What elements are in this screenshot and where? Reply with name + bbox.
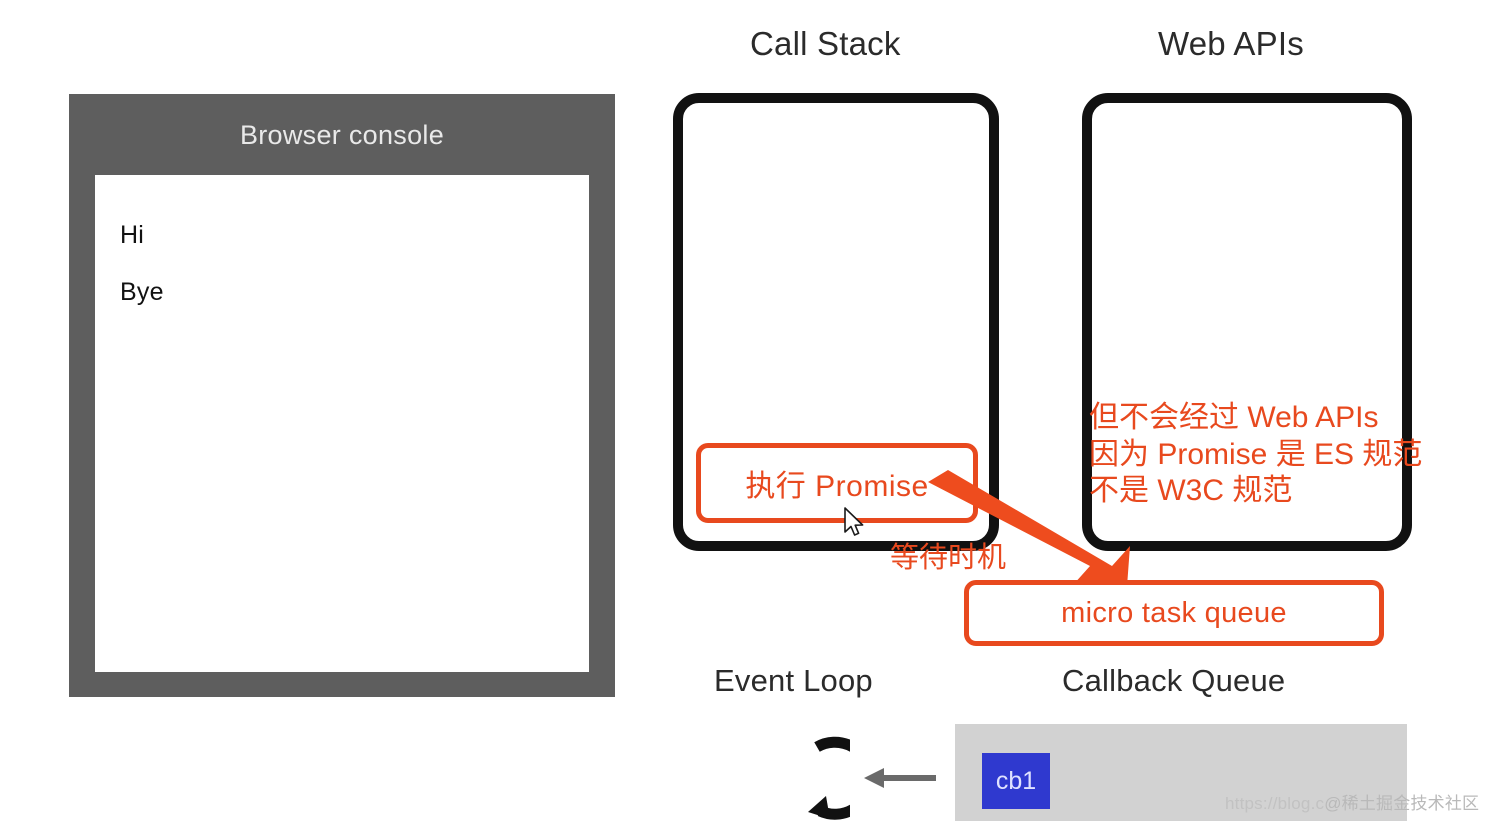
callback-queue-item: cb1 [982, 753, 1050, 809]
call-stack-label: Call Stack [750, 25, 901, 63]
diagram-canvas: Browser console Hi Bye Call Stack Web AP… [0, 0, 1485, 821]
web-apis-label: Web APIs [1158, 25, 1304, 63]
browser-console-output: Hi Bye [95, 175, 589, 672]
watermark: https://blog.c@稀土掘金技术社区 [1225, 789, 1479, 814]
callback-queue-item-label: cb1 [996, 767, 1036, 796]
console-log-line: Bye [120, 278, 164, 307]
watermark-url: https://blog.c [1225, 794, 1324, 813]
event-loop-circular-arrow-icon [758, 733, 850, 821]
callback-queue-label: Callback Queue [1062, 663, 1285, 699]
micro-task-queue-box: micro task queue [964, 580, 1384, 646]
console-log-line: Hi [120, 221, 144, 250]
micro-task-queue-label: micro task queue [1061, 597, 1287, 630]
exec-promise-label: 执行 Promise [745, 461, 928, 505]
callback-to-loop-arrow-icon [862, 765, 936, 791]
browser-console-title: Browser console [69, 94, 615, 176]
watermark-handle: @稀土掘金技术社区 [1324, 794, 1479, 813]
browser-console-panel: Browser console Hi Bye [69, 94, 615, 697]
mouse-cursor-icon [843, 507, 865, 539]
event-loop-label: Event Loop [714, 663, 873, 699]
